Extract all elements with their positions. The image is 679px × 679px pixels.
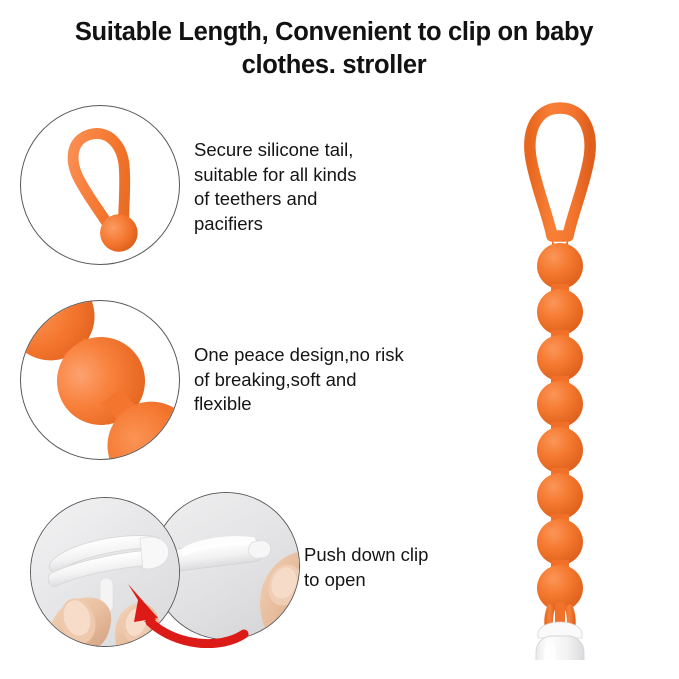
feature-image-secure-tail (20, 105, 180, 265)
bead-macro-icon (21, 301, 180, 460)
product-bead-chain (537, 240, 583, 611)
feature-image-one-piece-design (20, 300, 180, 460)
page-title: Suitable Length, Convenient to clip on b… (26, 16, 642, 82)
push-down-arrow-icon (104, 570, 249, 648)
feature-text-push-down-clip: Push down clip to open (304, 543, 484, 592)
silicone-tail-icon (21, 106, 179, 264)
product-image-pacifier-clip (500, 90, 620, 660)
infographic-page: Suitable Length, Convenient to clip on b… (0, 0, 679, 679)
feature-text-secure-tail: Secure silicone tail, suitable for all k… (194, 138, 444, 236)
product-loop (530, 108, 590, 236)
page-title-line-1: Suitable Length, Convenient to clip on b… (26, 16, 642, 49)
product-clip (536, 622, 584, 660)
page-title-line-2: clothes. stroller (26, 49, 642, 82)
feature-text-one-piece-design: One peace design,no risk of breaking,sof… (194, 343, 459, 417)
